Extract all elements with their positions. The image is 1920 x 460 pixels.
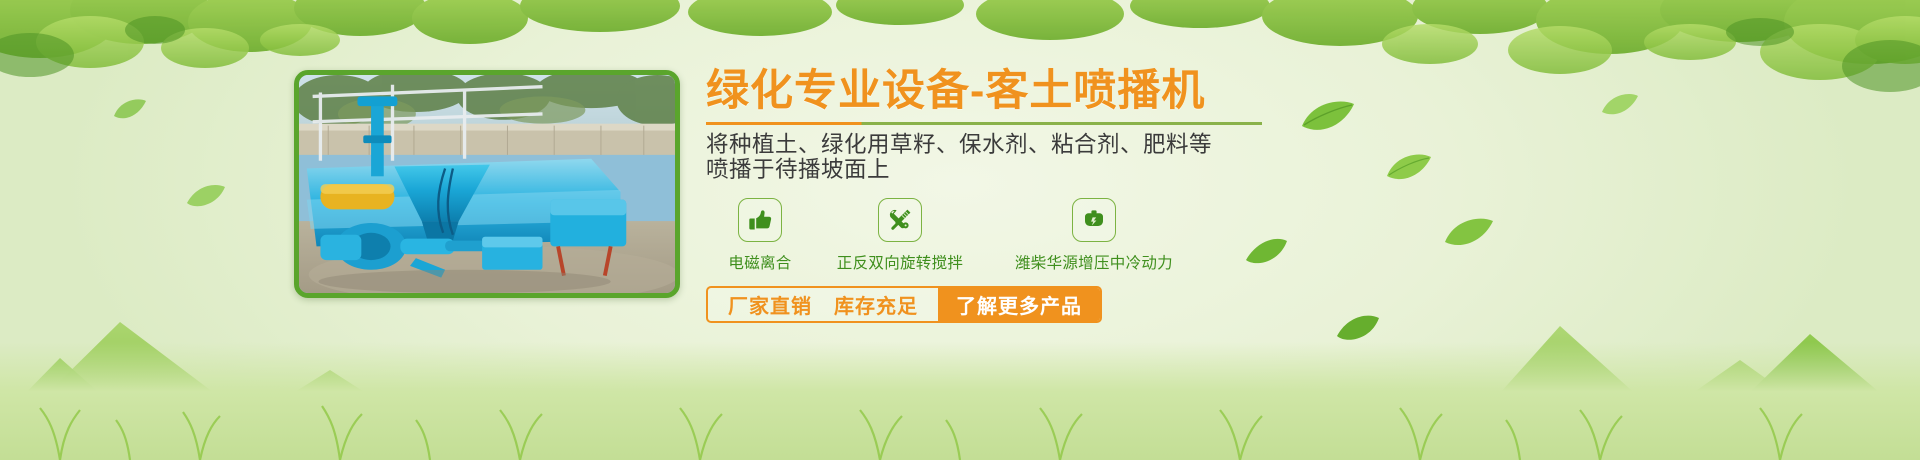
floating-leaf-icon <box>185 180 227 210</box>
wrench-screwdriver-icon <box>878 198 922 242</box>
cta-tag-1: 厂家直销 <box>728 290 812 319</box>
floating-leaf-icon <box>112 96 148 122</box>
product-photo <box>294 70 680 298</box>
engine-power-icon <box>1072 198 1116 242</box>
feature-label: 潍柴华源增压中冷动力 <box>1015 251 1173 273</box>
floating-leaf-icon <box>1385 150 1433 184</box>
cta-bar[interactable]: 厂家直销 库存充足 了解更多产品 <box>706 286 1102 323</box>
feature-list: 电磁离合 <box>706 198 1306 273</box>
cta-tags: 厂家直销 库存充足 <box>708 288 938 321</box>
cta-tag-2: 库存充足 <box>834 290 918 319</box>
grass-tufts-decoration <box>0 360 1920 460</box>
product-photo-image <box>299 75 675 297</box>
floating-leaf-icon <box>1335 310 1381 344</box>
title-divider <box>706 122 1262 125</box>
subtitle-line-1: 将种植土、绿化用草籽、保水剂、粘合剂、肥料等 <box>706 132 1306 157</box>
floating-leaf-icon <box>1600 90 1640 118</box>
feature-label: 正反双向旋转搅拌 <box>837 251 963 273</box>
feature-item-engine: 潍柴华源增压中冷动力 <box>986 198 1202 273</box>
page-title: 绿化专业设备-客土喷播机 <box>706 66 1306 117</box>
promo-banner: 绿化专业设备-客土喷播机 将种植土、绿化用草籽、保水剂、粘合剂、肥料等 喷播于待… <box>0 0 1920 460</box>
subtitle-line-2: 喷播于待播坡面上 <box>706 157 1306 182</box>
feature-item-clutch: 电磁离合 <box>706 198 814 273</box>
feature-label: 电磁离合 <box>728 251 791 273</box>
floating-leaf-icon <box>1300 96 1356 136</box>
floating-leaf-icon <box>1443 214 1495 250</box>
feature-item-mixing: 正反双向旋转搅拌 <box>814 198 986 273</box>
banner-content: 绿化专业设备-客土喷播机 将种植土、绿化用草籽、保水剂、粘合剂、肥料等 喷播于待… <box>706 66 1306 323</box>
learn-more-button[interactable]: 了解更多产品 <box>938 288 1100 321</box>
subtitle-block: 将种植土、绿化用草籽、保水剂、粘合剂、肥料等 喷播于待播坡面上 <box>706 132 1306 182</box>
thumbs-up-icon <box>738 198 782 242</box>
